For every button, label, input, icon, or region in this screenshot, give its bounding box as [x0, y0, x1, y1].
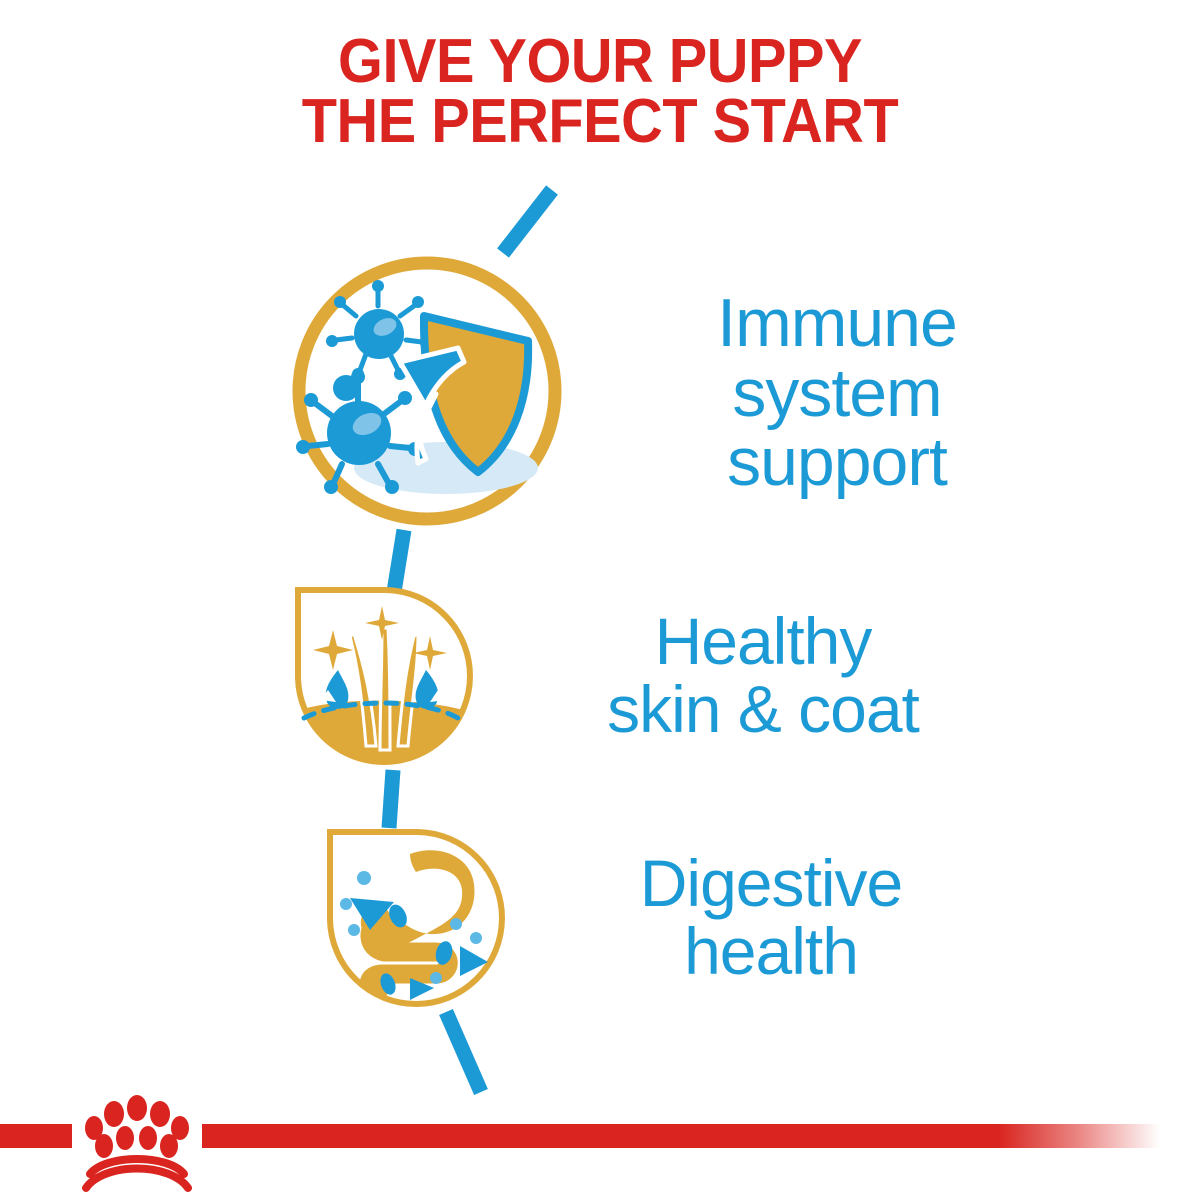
poster-canvas: GIVE YOUR PUPPY THE PERFECT START: [0, 0, 1200, 1200]
page-title-line-2: THE PERFECT START: [42, 92, 1158, 152]
benefit-row-immune: Immune system support: [286, 250, 1052, 537]
benefit-label-immune: Immune system support: [622, 289, 1052, 497]
benefit-label-skin: Healthy skin & coat: [548, 608, 978, 743]
footer: [0, 1080, 1200, 1200]
benefit-row-digest: Digestive health: [318, 820, 986, 1015]
skin-coat-icon: [286, 578, 476, 773]
royal-canin-crown-logo: [76, 1088, 198, 1196]
page-title-line-1: GIVE YOUR PUPPY: [42, 32, 1158, 92]
digestive-health-icon: [318, 820, 508, 1015]
benefit-row-skin: Healthy skin & coat: [286, 578, 978, 773]
page-title: GIVE YOUR PUPPY THE PERFECT START: [42, 32, 1158, 152]
benefit-label-digest: Digestive health: [556, 850, 986, 985]
immune-shield-icon: [286, 250, 568, 537]
